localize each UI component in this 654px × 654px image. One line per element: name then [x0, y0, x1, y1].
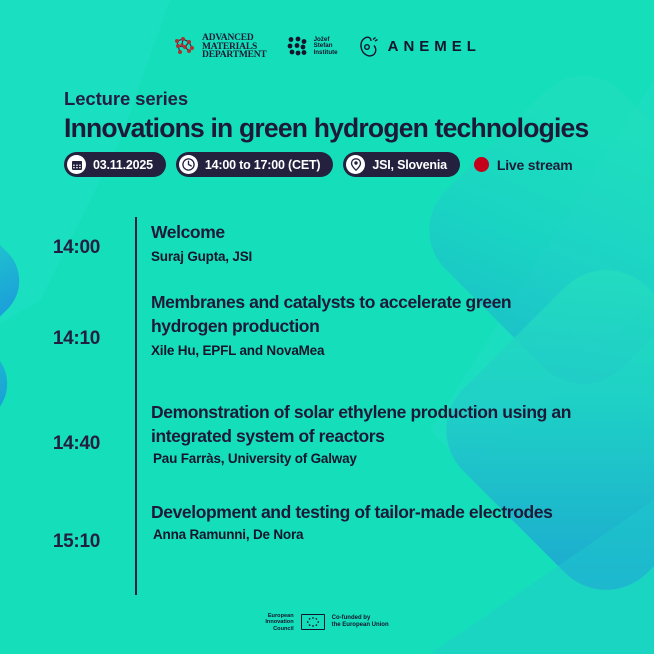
agenda-entry: Welcome Suraj Gupta, JSI [131, 212, 252, 284]
page-title: Innovations in green hydrogen technologi… [64, 113, 588, 144]
logo-anemel: ANEMEL [358, 35, 481, 59]
logo-jozef-stefan-institute: Jožef Stefan Institute [287, 36, 338, 58]
agenda-speaker: Anna Ramunni, De Nora [151, 527, 552, 542]
pill-location[interactable]: JSI, Slovenia [343, 152, 460, 177]
agenda-row: 15:10 Development and testing of tailor-… [0, 494, 654, 590]
agenda-entry: Demonstration of solar ethylene producti… [131, 394, 591, 494]
pill-date-label: 03.11.2025 [93, 158, 153, 172]
anemel-wordmark: ANEMEL [388, 38, 481, 55]
agenda-time: 15:10 [0, 494, 131, 590]
location-pin-icon [346, 155, 365, 174]
partner-logo-row: ADVANCED MATERIALS DEPARTMENT Jožef Stef… [0, 34, 654, 60]
eic-line2: Innovation [265, 619, 293, 625]
jsi-dots-icon [287, 36, 309, 58]
agenda-speaker: Xile Hu, EPFL and NovaMea [151, 343, 591, 358]
agenda-time: 14:00 [0, 212, 131, 284]
pill-time-label: 14:00 to 17:00 (CET) [205, 158, 320, 172]
anemel-flask-icon [358, 35, 383, 59]
pill-time[interactable]: 14:00 to 17:00 (CET) [176, 152, 333, 177]
cofunded-line2: the European Union [332, 622, 389, 629]
molecule-icon [173, 36, 197, 58]
page-kicker: Lecture series [64, 88, 188, 110]
eu-flag-icon [301, 614, 325, 630]
live-dot-icon [474, 157, 489, 172]
live-stream-indicator: Live stream [474, 157, 573, 173]
agenda-title: Demonstration of solar ethylene producti… [151, 400, 591, 448]
agenda-title: Welcome [151, 220, 252, 244]
agenda-row: 14:40 Demonstration of solar ethylene pr… [0, 394, 654, 494]
calendar-icon [67, 155, 86, 174]
cofunded-line1: Co-funded by [332, 615, 389, 622]
pill-date[interactable]: 03.11.2025 [64, 152, 166, 177]
agenda-entry: Development and testing of tailor-made e… [131, 494, 552, 590]
live-stream-label: Live stream [497, 157, 573, 173]
agenda-row: 14:10 Membranes and catalysts to acceler… [0, 284, 654, 394]
pill-location-label: JSI, Slovenia [372, 158, 447, 172]
eic-line3: Council [265, 626, 293, 632]
funding-footer: European Innovation Council Co-funded by… [0, 613, 654, 632]
eic-logo-text: European Innovation Council [265, 613, 293, 632]
agenda-entry: Membranes and catalysts to accelerate gr… [131, 284, 591, 394]
agenda-time: 14:10 [0, 284, 131, 394]
agenda-divider-line [135, 217, 137, 595]
agenda-speaker: Pau Farràs, University of Galway [151, 451, 591, 466]
logo-advanced-materials-department: ADVANCED MATERIALS DEPARTMENT [173, 34, 267, 60]
agenda-title: Membranes and catalysts to accelerate gr… [151, 290, 591, 338]
cofunded-text: Co-funded by the European Union [332, 615, 389, 629]
agenda-row: 14:00 Welcome Suraj Gupta, JSI [0, 212, 654, 284]
agenda-time: 14:40 [0, 394, 131, 494]
agenda-speaker: Suraj Gupta, JSI [151, 249, 252, 264]
amd-line3: DEPARTMENT [202, 51, 267, 60]
jsi-line3: Institute [314, 50, 338, 57]
logo-amd-text: ADVANCED MATERIALS DEPARTMENT [202, 34, 267, 60]
logo-jsi-text: Jožef Stefan Institute [314, 37, 338, 57]
agenda-list: 14:00 Welcome Suraj Gupta, JSI 14:10 Mem… [0, 212, 654, 590]
agenda-title: Development and testing of tailor-made e… [151, 500, 552, 524]
event-info-pills: 03.11.2025 14:00 to 17:00 (CET) JSI, Slo… [64, 152, 573, 177]
clock-icon [179, 155, 198, 174]
